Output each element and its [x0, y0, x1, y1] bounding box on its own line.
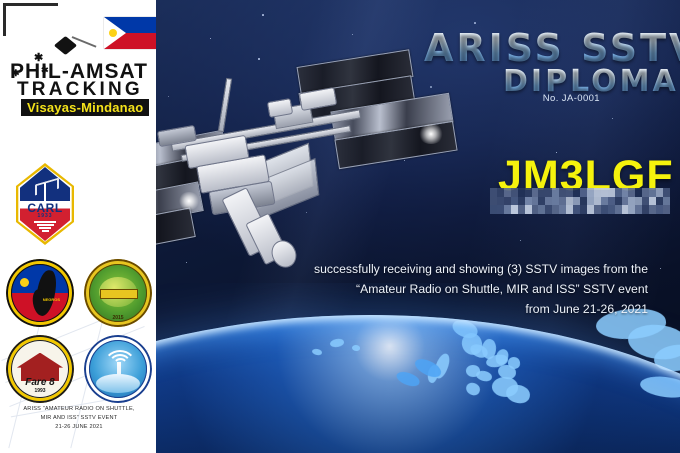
ariss-sstv-diploma-card: ✱ ✱ ✱ PHIL-AMSAT TRACKING Visayas-Mindan…: [0, 0, 680, 453]
sidebar-panel: ✱ ✱ ✱ PHIL-AMSAT TRACKING Visayas-Mindan…: [0, 0, 156, 453]
philippines-flag-icon: [104, 17, 156, 49]
emblem-carl: CARL 1933: [16, 163, 74, 245]
sidebar-caption-line-2: MIR AND ISS” SSTV EVENT: [8, 414, 150, 423]
emblem-cadre: 2015: [84, 259, 152, 327]
diploma-body-line-2: “Amateur Radio on Shuttle, MIR and ISS” …: [290, 279, 648, 299]
emblem-fare8-label: Fare 8: [6, 377, 74, 388]
emblem-carl-bars-icon: [34, 221, 56, 233]
sidebar-caption: ARISS “AMATEUR RADIO ON SHUTTLE, MIR AND…: [8, 405, 150, 432]
star: [262, 14, 264, 16]
star: [474, 22, 476, 24]
emblem-negros-label: NEGROS: [43, 297, 60, 302]
diploma-body-line-3: from June 21-26, 2021: [290, 299, 648, 319]
emblem-cadre-year: 2015: [84, 315, 152, 321]
redaction-pixel: [663, 205, 670, 214]
sidebar-caption-line-1: ARISS “AMATEUR RADIO ON SHUTTLE,: [8, 405, 150, 414]
brand-region-badge: Visayas-Mindanao: [21, 99, 149, 116]
emblem-carl-year: 1933: [16, 213, 74, 219]
redacted-name-bar: [490, 188, 670, 214]
diploma-body-line-1: successfully receiving and showing (3) S…: [290, 259, 648, 279]
corner-frame-decoration: [3, 3, 58, 36]
sun-glint: [418, 124, 444, 144]
emblem-negros-sun-icon: [20, 278, 29, 287]
emblem-para: [84, 335, 152, 403]
emblem-fare8-year: 1993: [6, 388, 74, 394]
truss-mast: [218, 78, 232, 132]
international-space-station-image: [150, 40, 470, 280]
sun-glint: [178, 192, 200, 210]
emblem-cadre-banner: [100, 289, 137, 299]
brand-title-secondary: TRACKING: [17, 79, 156, 101]
emblem-negros: NEGROS: [6, 259, 74, 327]
emblem-carl-mast-icon: [44, 183, 46, 201]
flag-sun: [109, 29, 117, 37]
diploma-body-text: successfully receiving and showing (3) S…: [290, 259, 648, 319]
diploma-number: No. JA-0001: [543, 93, 600, 104]
emblem-fare8: Fare 8 1993: [6, 335, 74, 403]
sidebar-caption-line-3: 21-26 JUNE 2021: [8, 423, 150, 432]
